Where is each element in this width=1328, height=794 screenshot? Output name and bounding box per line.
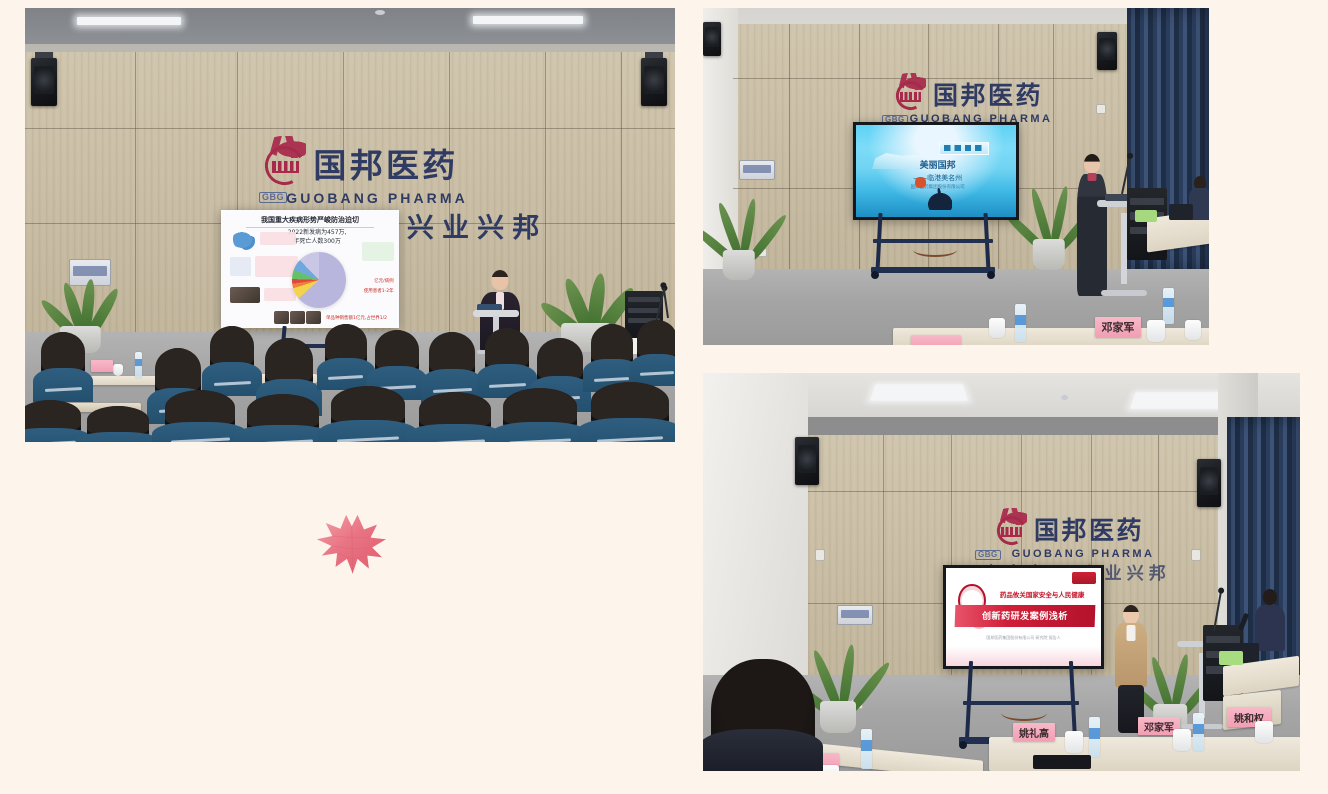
audience-member-front: [165, 390, 235, 442]
slide-corner-logo: [1072, 572, 1097, 584]
audience-hair: [637, 320, 675, 357]
slide-annotation-bottom: 单品种销售额1亿元,占世界1/2: [326, 315, 387, 321]
slide-photo-chip: [290, 311, 304, 324]
water-bottle: [1015, 304, 1026, 342]
audience-member-front: [419, 392, 491, 442]
cart-cable: [1001, 705, 1047, 721]
tea-cup: [821, 765, 839, 771]
wall-brand-logo: 国邦医药 GUOBANG PHARMA GBG: [858, 78, 1078, 125]
audience-hair: [165, 390, 235, 425]
photo-presenter-beside-tv-lake-slide[interactable]: 国邦医药 GUOBANG PHARMA GBG: [703, 8, 1209, 345]
audience-member-front: [503, 388, 577, 442]
audience-uniform: [33, 368, 93, 402]
slide-headline: 药品攸关国家安全与人民健康: [993, 589, 1092, 599]
brand-name-cn: 国邦医药: [933, 83, 1043, 108]
plant-pot: [1033, 239, 1065, 270]
wall-control-panel: [739, 160, 775, 180]
tv-display[interactable]: 美丽国邦 ——临港美名州 国邦医药集团股份有限公司: [853, 122, 1019, 220]
lectern-base: [1101, 290, 1146, 296]
audience-hair: [591, 382, 669, 421]
wall-outlet: [815, 549, 825, 561]
crown-icon: [272, 161, 300, 173]
audience-member-front: [591, 382, 669, 442]
cart-wheel: [987, 271, 995, 279]
green-bag: [1219, 651, 1243, 665]
maple-leaf-icon: [308, 510, 394, 580]
seated-attendee-with-mic: [1255, 589, 1285, 651]
brand-name-cn: 国邦医药: [1034, 518, 1144, 543]
slide-beautiful-guobang: 美丽国邦 ——临港美名州 国邦医药集团股份有限公司: [856, 125, 1016, 217]
guobang-logo-mark: [893, 78, 927, 112]
audience-hair: [265, 338, 313, 382]
tea-cup: [989, 318, 1005, 338]
slide-title-banner: 创新药研发案例浅析: [955, 605, 1095, 627]
pie-chart: [292, 252, 345, 307]
slide-banner-title: 创新药研发案例浅析: [982, 610, 1068, 623]
wall-outlet: [1191, 549, 1201, 561]
wall-outlet: [1096, 104, 1106, 114]
audience-member-front: [247, 394, 319, 442]
audience-hair: [485, 328, 529, 367]
ceiling-sensor: [1061, 395, 1068, 400]
potted-plant-left: [711, 180, 767, 280]
potted-plant-right: [1021, 166, 1077, 270]
audience-hair: [210, 326, 254, 365]
scene-meeting-room-red: 国邦医药 GUOBANG PHARMA GBG 立人立国 兴业兴邦: [703, 373, 1300, 771]
collage-page: 国邦医药 GUOBANG PHARMA GBG 立人立国 兴业兴邦: [0, 0, 1328, 794]
table-nameplate: 姚礼高: [1013, 723, 1055, 741]
potted-plant-left: [807, 625, 869, 733]
slide-footnote: 国邦医药集团股份有限公司 研究院 报告人: [965, 635, 1083, 641]
audience-hair: [247, 394, 319, 428]
presenter-head: [492, 270, 509, 290]
cart-cable: [913, 243, 957, 257]
slide-photo-chip: [306, 311, 320, 324]
audience-member: [210, 326, 254, 396]
slide-innovative-drug-rnd: 药品攸关国家安全与人民健康 创新药研发案例浅析 国邦医药集团股份有限公司 研究院…: [946, 568, 1101, 666]
tea-cup: [113, 364, 123, 376]
wall-speaker-left: [703, 22, 721, 56]
table-nameplate: 邓家军: [1095, 317, 1141, 337]
slide-annotation-right-2: 使用患者1-2年: [364, 288, 394, 294]
brand-name-en: GUOBANG PHARMA: [259, 191, 495, 205]
slide-signboard-graphic: [939, 142, 989, 155]
slide-subtitle: ——临港美名州: [872, 173, 1003, 183]
slide-title: 美丽国邦: [869, 158, 1007, 171]
ceiling-light: [1130, 392, 1226, 408]
guobang-logo-mark: [994, 513, 1028, 547]
slide-subtitle-line1: 2022新发病为457万,: [288, 229, 347, 236]
tea-cup: [1173, 729, 1191, 751]
tea-cup: [1065, 731, 1083, 753]
audience-uniform: [76, 432, 160, 442]
audience-hair: [325, 324, 367, 361]
audience-hair: [87, 406, 149, 434]
side-desk: [81, 376, 161, 385]
slide-callout-chip: [362, 242, 394, 261]
crown-icon: [900, 92, 920, 101]
slide-annotation-right: 亿元/病例: [374, 278, 394, 284]
panel-seam: [883, 435, 884, 685]
audience-member: [41, 332, 85, 402]
ceiling: [25, 8, 675, 47]
cart-wheel: [959, 741, 967, 749]
speaker-bracket: [645, 52, 663, 58]
scene-auditorium: 国邦医药 GUOBANG PHARMA GBG 立人立国 兴业兴邦: [25, 8, 675, 442]
audience-member-front: [331, 386, 405, 442]
slide-photo-chip: [230, 287, 260, 304]
audience-member: [325, 324, 367, 390]
audience-hair: [25, 400, 81, 430]
foreground-attendee-jacket: [703, 729, 823, 771]
wall-control-panel: [837, 605, 873, 625]
audience-hair: [537, 338, 583, 379]
attendee-head: [1263, 589, 1277, 605]
side-wall-left: [703, 373, 808, 703]
tablet-device: [1033, 755, 1091, 769]
audience-hair: [375, 330, 419, 369]
panel-seam: [25, 128, 675, 129]
wall-speaker-left: [31, 58, 57, 106]
audience-hair: [331, 386, 405, 423]
cart-base: [871, 267, 995, 273]
presenter-head: [1084, 154, 1100, 173]
panel-seam: [135, 52, 136, 338]
ceiling-sensor: [375, 10, 385, 15]
panel-seam: [789, 24, 790, 274]
rack-slot: [1130, 198, 1164, 205]
green-bag: [1135, 210, 1157, 222]
audience-hair: [419, 392, 491, 427]
tea-cup: [1147, 320, 1165, 342]
attendee-torso: [1255, 605, 1285, 651]
presenter-head: [1123, 605, 1139, 624]
audience-uniform: [630, 354, 675, 386]
ceiling-light: [870, 384, 968, 400]
panel-seam: [808, 491, 1220, 492]
wall-speaker-right: [641, 58, 667, 106]
water-bottle: [861, 729, 872, 769]
tea-cup: [1255, 721, 1273, 743]
audience-member-front: [87, 406, 149, 442]
photo-auditorium-lecture-wide-shot[interactable]: 国邦医药 GUOBANG PHARMA GBG 立人立国 兴业兴邦: [25, 8, 675, 442]
wall-speaker-right: [1197, 459, 1221, 507]
wall-speaker-left: [795, 437, 819, 485]
black-swan-graphic: [926, 191, 952, 209]
brand-badge-gbg: GBG: [975, 550, 1001, 560]
audience-hair: [155, 348, 201, 391]
presenter: [1113, 605, 1149, 733]
photo-presenter-beside-tv-red-slide[interactable]: 国邦医药 GUOBANG PHARMA GBG 立人立国 兴业兴邦: [703, 373, 1300, 771]
brand-badge-gbg: GBG: [259, 192, 287, 203]
brand-name-cn: 国邦医药: [313, 149, 458, 182]
tea-cup: [1185, 320, 1201, 340]
plant-pot: [820, 701, 856, 733]
audience-member: [637, 320, 675, 386]
water-bottle: [1089, 717, 1100, 757]
slide-subtitle-line2: 年死亡人数300万: [293, 238, 340, 245]
china-map-graphic: [233, 230, 254, 250]
maple-leaf-decoration: [308, 510, 394, 580]
ceiling-light: [473, 16, 583, 24]
laptop: [1169, 204, 1193, 220]
slide-callout-chip: [255, 256, 298, 277]
projection-screen[interactable]: 我国重大疾病形势严峻防治迫切 2022新发病为457万, 年死亡人数300万 亿…: [221, 210, 399, 328]
slide-major-disease: 我国重大疾病形势严峻防治迫切 2022新发病为457万, 年死亡人数300万 亿…: [221, 210, 399, 328]
water-bottle: [1163, 288, 1174, 324]
presenter-scarf: [1088, 173, 1097, 181]
audience-member: [485, 328, 529, 398]
audience-hair: [429, 332, 475, 372]
speaker-bracket: [35, 52, 53, 58]
slide-title: 我国重大疾病形势严峻防治迫切: [221, 215, 399, 225]
brand-name-en: GUOBANG PHARMA: [977, 549, 1189, 560]
slide-callout-chip: [260, 232, 296, 245]
plant-pot: [723, 250, 755, 280]
cart-wheel: [871, 271, 879, 279]
presenter-blouse: [1127, 625, 1136, 641]
slide-icon-chip: [230, 257, 251, 276]
audience-hair: [503, 388, 577, 425]
paddler-figure: [915, 177, 926, 188]
rack-slot: [628, 297, 660, 302]
tv-display[interactable]: 药品攸关国家安全与人民健康 创新药研发案例浅析 国邦医药集团股份有限公司 研究院…: [943, 565, 1104, 669]
water-bottle: [135, 352, 142, 378]
tv-cart: [863, 213, 1003, 275]
audience-member-front: [25, 400, 81, 442]
water-bottle: [1193, 713, 1204, 751]
rack-slot: [628, 308, 660, 313]
audience-hair: [591, 324, 633, 362]
wall-speaker-right: [1097, 32, 1117, 70]
slide-callout-chip: [264, 288, 296, 301]
audience-hair: [41, 332, 85, 371]
slide-photo-chip: [274, 311, 288, 324]
table-nameplate: [911, 335, 961, 345]
crown-icon: [1001, 527, 1021, 536]
scene-meeting-room-lake: 国邦医药 GUOBANG PHARMA GBG: [703, 8, 1209, 345]
guobang-logo-mark: [261, 142, 307, 188]
ceiling-light: [77, 17, 181, 25]
table-nameplate: [91, 360, 113, 372]
